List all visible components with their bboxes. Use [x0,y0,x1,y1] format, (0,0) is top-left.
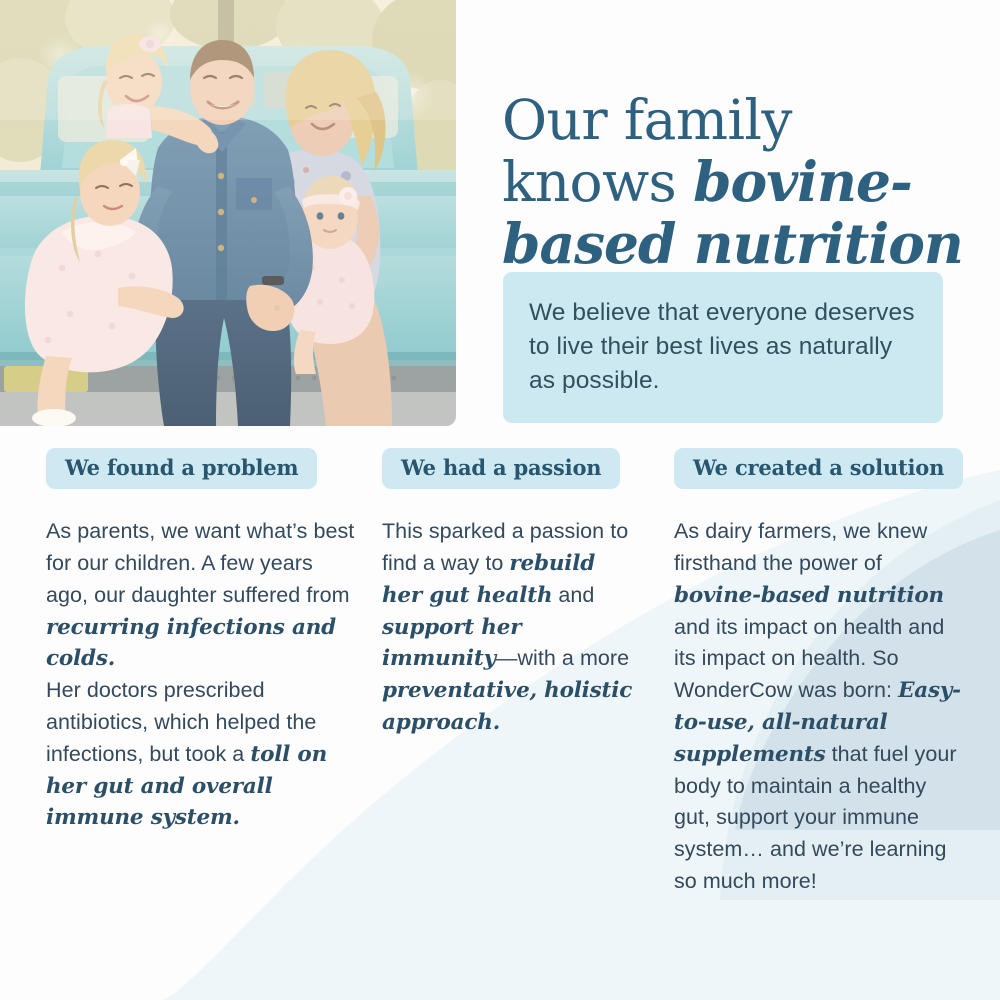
plain-text: As parents, we want what’s best for our … [46,519,354,607]
plain-text: —with a more [496,646,629,670]
story-column-passion: We had a passion This sparked a passion … [382,448,640,739]
emphasis-text: preventative, holistic approach. [382,678,632,735]
emphasis-text: bovine-based nutrition [674,583,944,608]
story-pill-solution: We created a solution [674,448,963,489]
story-pill-problem: We found a problem [46,448,317,489]
story-paragraph: This sparked a passion to find a way to … [382,516,640,739]
headline-line-2-regular: knows [502,150,693,214]
story-body-passion: This sparked a passion to find a way to … [382,516,640,739]
family-photo-illustration [0,0,456,426]
headline-line-3-emphasis: based nutrition [502,211,963,276]
headline-line-1: Our family [502,88,792,152]
story-paragraph: Her doctors prescribed antibiotics, whic… [46,675,358,834]
plain-text: As dairy farmers, we knew firsthand the … [674,519,927,575]
belief-statement-text: We believe that everyone deserves to liv… [529,296,917,397]
story-paragraph: As parents, we want what’s best for our … [46,516,358,675]
headline-line-2-emphasis: bovine- [693,149,912,214]
story-column-solution: We created a solution As dairy farmers, … [674,448,964,898]
story-paragraph: As dairy farmers, we knew firsthand the … [674,516,964,898]
plain-text: and [552,583,594,607]
hero-family-photo [0,0,456,426]
emphasis-text: recurring infections and colds. [46,615,336,672]
page-headline: Our family knows bovine- based nutrition [502,89,972,275]
story-body-solution: As dairy farmers, we knew firsthand the … [674,516,964,898]
belief-statement-box: We believe that everyone deserves to liv… [503,272,943,423]
story-column-problem: We found a problem As parents, we want w… [46,448,358,834]
about-us-page: Our family knows bovine- based nutrition… [0,0,1000,1000]
story-pill-passion: We had a passion [382,448,620,489]
story-body-problem: As parents, we want what’s best for our … [46,516,358,834]
